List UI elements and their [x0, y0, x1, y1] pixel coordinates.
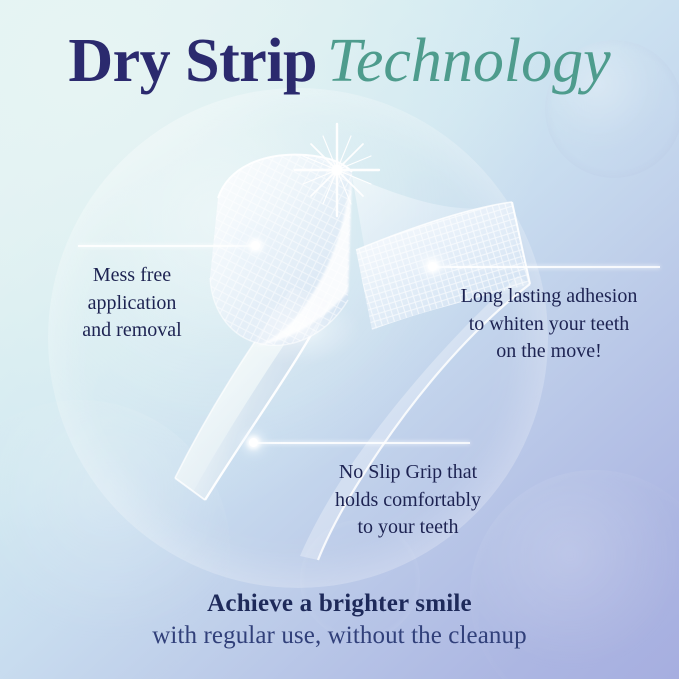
callout-line: to whiten your teeth	[424, 311, 674, 339]
callout-mess-free: Mess free application and removal	[28, 262, 236, 345]
callout-line: Mess free	[28, 262, 236, 290]
callout-line: and removal	[28, 317, 236, 345]
title-italic-text: Technology	[327, 27, 611, 95]
callout-long-lasting-adhesion: Long lasting adhesion to whiten your tee…	[424, 283, 674, 366]
connector-line-long-lasting	[432, 266, 660, 268]
product-infographic-poster: Dry StripTechnology	[0, 0, 679, 679]
footer-line-2: with regular use, without the cleanup	[0, 620, 679, 651]
callout-no-slip-grip: No Slip Grip that holds comfortably to y…	[274, 459, 542, 542]
callout-line: holds comfortably	[274, 487, 542, 515]
callout-line: on the move!	[424, 338, 674, 366]
poster-title: Dry StripTechnology	[0, 30, 679, 92]
connector-line-mess-free	[78, 245, 256, 247]
footer-line-1: Achieve a brighter smile	[0, 589, 679, 620]
connector-line-no-slip-grip	[254, 442, 470, 444]
title-bold-text: Dry Strip	[68, 27, 317, 95]
callout-line: No Slip Grip that	[274, 459, 542, 487]
star-sparkle-icon	[295, 124, 379, 216]
footer-tagline: Achieve a brighter smile with regular us…	[0, 589, 679, 651]
node-dot-long-lasting	[428, 262, 437, 271]
node-dot-mess-free	[251, 241, 260, 250]
strip-glow-lower	[240, 296, 360, 364]
callout-line: to your teeth	[274, 514, 542, 542]
node-dot-no-slip-grip	[249, 438, 258, 447]
strip-fold-highlight	[256, 172, 352, 346]
callout-line: application	[28, 290, 236, 318]
callout-line: Long lasting adhesion	[424, 283, 674, 311]
